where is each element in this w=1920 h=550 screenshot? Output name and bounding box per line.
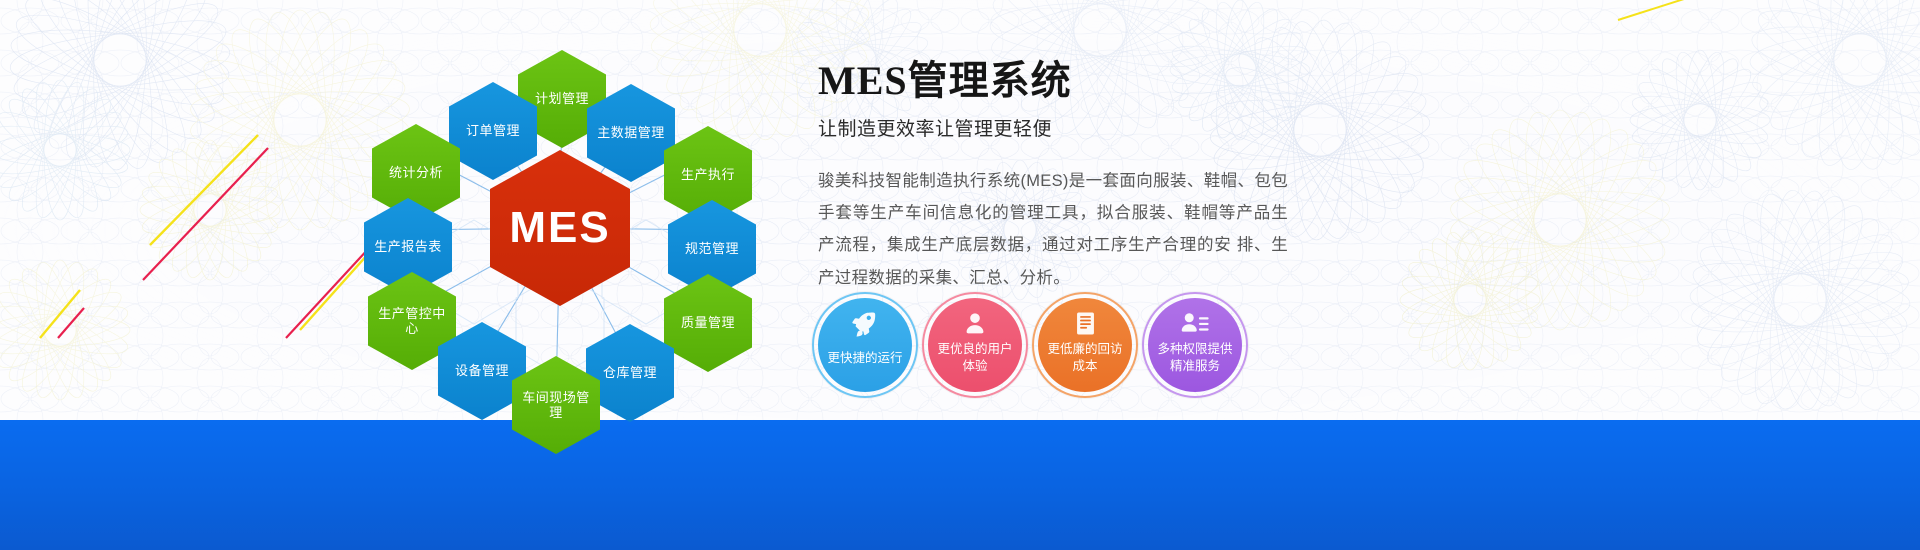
badge-ring — [812, 292, 918, 398]
badge-label: 更快捷的运行 — [819, 350, 910, 367]
hex-node-label: 生产管控中心 — [368, 306, 456, 337]
hex-node-label: 订单管理 — [462, 123, 524, 138]
hex-node-label: 生产报告表 — [370, 239, 446, 254]
feature-badge-2[interactable]: 更低廉的回访成本 — [1038, 298, 1132, 392]
permission-icon — [1148, 310, 1242, 338]
hex-node-label: 仓库管理 — [599, 365, 661, 380]
page-subtitle: 让制造更效率让管理更轻便 — [818, 114, 1288, 141]
hex-node-label: 设备管理 — [451, 363, 513, 378]
hex-node-label: 车间现场管理 — [512, 390, 600, 421]
page-description: 骏美科技智能制造执行系统(MES)是一套面向服装、鞋帽、包包手套等生产车间信息化… — [818, 165, 1288, 294]
hex-node-label: 主数据管理 — [593, 125, 669, 140]
bottom-blue-band — [0, 420, 1920, 550]
page-title: MES管理系统 — [818, 48, 1288, 106]
mes-banner: 计划管理 订单管理 主数据管理 统计分析 生产执行 生产报告表 规范管理 生产管… — [0, 0, 1920, 550]
banner-content: MES管理系统 让制造更效率让管理更轻便 骏美科技智能制造执行系统(MES)是一… — [818, 48, 1288, 294]
mes-hex-diagram: 计划管理 订单管理 主数据管理 统计分析 生产执行 生产报告表 规范管理 生产管… — [330, 20, 790, 440]
hex-node-label: 规范管理 — [681, 241, 743, 256]
hex-node-label: 统计分析 — [385, 165, 447, 180]
hex-core-label: MES — [505, 202, 614, 254]
hex-node-label: 质量管理 — [677, 315, 739, 330]
badge-label: 更低廉的回访成本 — [1038, 341, 1132, 375]
badge-label: 多种权限提供精准服务 — [1148, 341, 1242, 375]
hex-node-label: 生产执行 — [677, 167, 739, 182]
feature-badge-1[interactable]: 更优良的用户体验 — [928, 298, 1022, 392]
user-icon — [928, 310, 1022, 338]
feature-badge-list: 更快捷的运行 更优良的用户体验 — [818, 298, 1242, 392]
feature-badge-0[interactable]: 更快捷的运行 — [818, 298, 912, 392]
hex-node-label: 计划管理 — [531, 91, 593, 106]
feature-badge-3[interactable]: 多种权限提供精准服务 — [1148, 298, 1242, 392]
document-icon — [1038, 310, 1132, 337]
badge-label: 更优良的用户体验 — [928, 341, 1022, 375]
rocket-icon — [818, 310, 912, 340]
